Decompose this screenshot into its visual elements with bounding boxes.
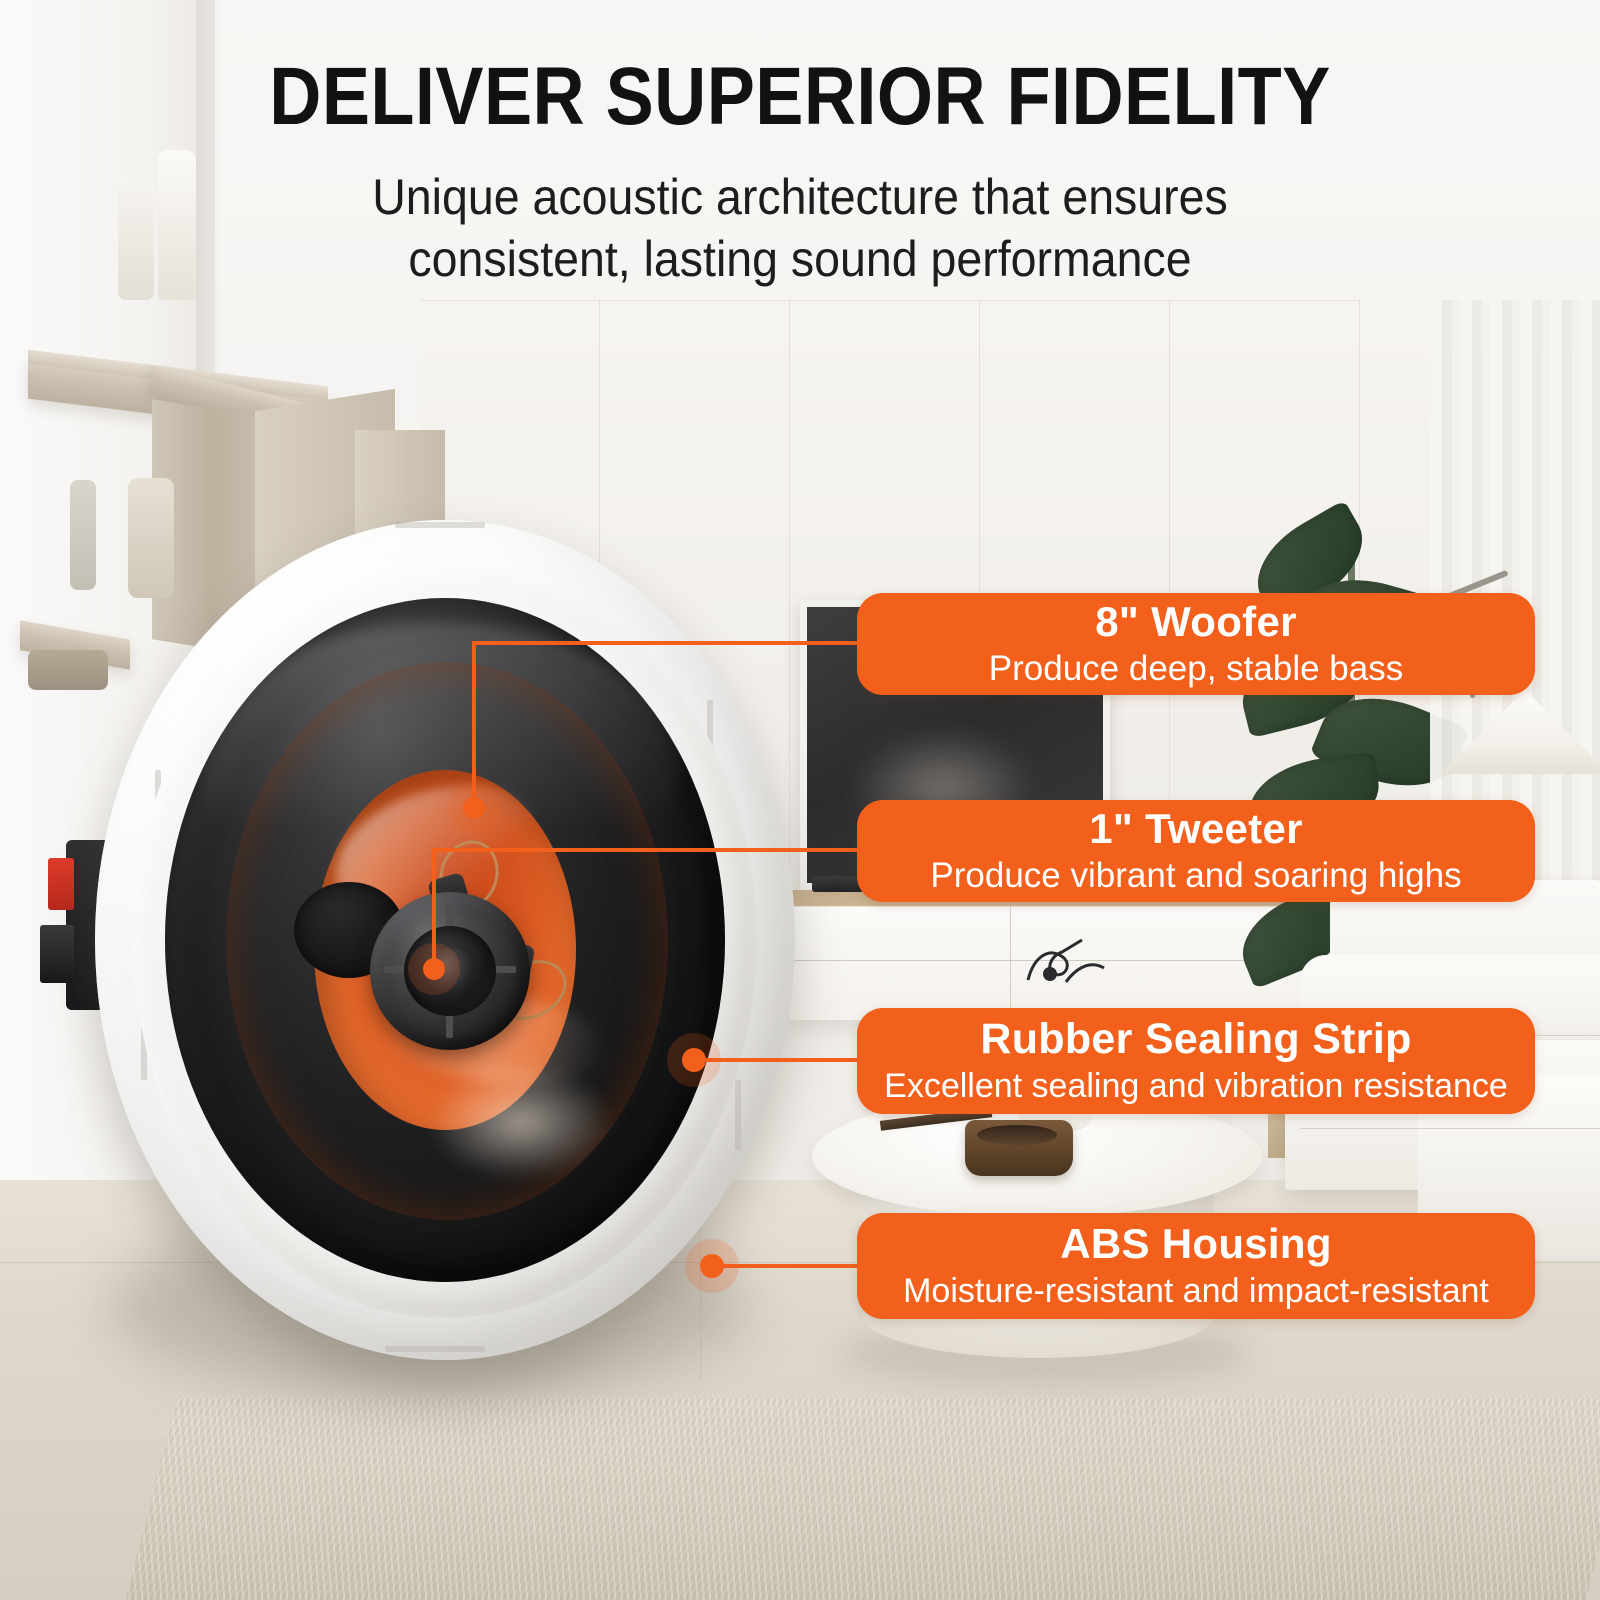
page-subtitle: Unique acoustic architecture that ensure… [56, 166, 1544, 290]
callout-subtitle: Produce vibrant and soaring highs [930, 855, 1461, 897]
bezel-notch [395, 522, 485, 528]
black-terminal [40, 925, 74, 983]
wooden-bowl [965, 1120, 1073, 1176]
area-rug [123, 1395, 1600, 1600]
cone-highlight [426, 1062, 616, 1182]
center-tweeter [370, 892, 530, 1050]
subtitle-line-1: Unique acoustic architecture that ensure… [56, 166, 1544, 228]
callout-rubber-sealing-strip[interactable]: Rubber Sealing Strip Excellent sealing a… [857, 1008, 1535, 1114]
sofa-seam [1300, 1128, 1600, 1129]
wire-sculpture [1020, 930, 1140, 986]
callout-title: Rubber Sealing Strip [980, 1016, 1411, 1062]
subtitle-line-2: consistent, lasting sound performance [56, 228, 1544, 290]
bezel-notch [385, 1346, 485, 1352]
callout-title: 1" Tweeter [1089, 806, 1303, 852]
header-block: DELIVER SUPERIOR FIDELITY Unique acousti… [0, 56, 1600, 290]
callout-title: ABS Housing [1060, 1221, 1332, 1267]
red-terminal [48, 858, 74, 910]
callout-tweeter[interactable]: 1" Tweeter Produce vibrant and soaring h… [857, 800, 1535, 902]
bowl-interior [977, 1125, 1057, 1145]
callout-subtitle: Produce deep, stable bass [989, 648, 1403, 690]
tweeter-core [426, 948, 474, 994]
callout-subtitle: Moisture-resistant and impact-resistant [903, 1270, 1489, 1312]
infographic-canvas: DELIVER SUPERIOR FIDELITY Unique acousti… [0, 0, 1600, 1600]
callout-abs-housing[interactable]: ABS Housing Moisture-resistant and impac… [857, 1213, 1535, 1319]
console-seam [1010, 905, 1011, 1020]
page-title: DELIVER SUPERIOR FIDELITY [96, 56, 1504, 138]
callout-subtitle: Excellent sealing and vibration resistan… [884, 1065, 1508, 1107]
callout-title: 8" Woofer [1095, 599, 1297, 645]
bezel-notch [735, 1080, 741, 1150]
product-speaker [40, 510, 800, 1370]
callout-woofer[interactable]: 8" Woofer Produce deep, stable bass [857, 593, 1535, 695]
rug-texture [123, 1395, 1600, 1600]
